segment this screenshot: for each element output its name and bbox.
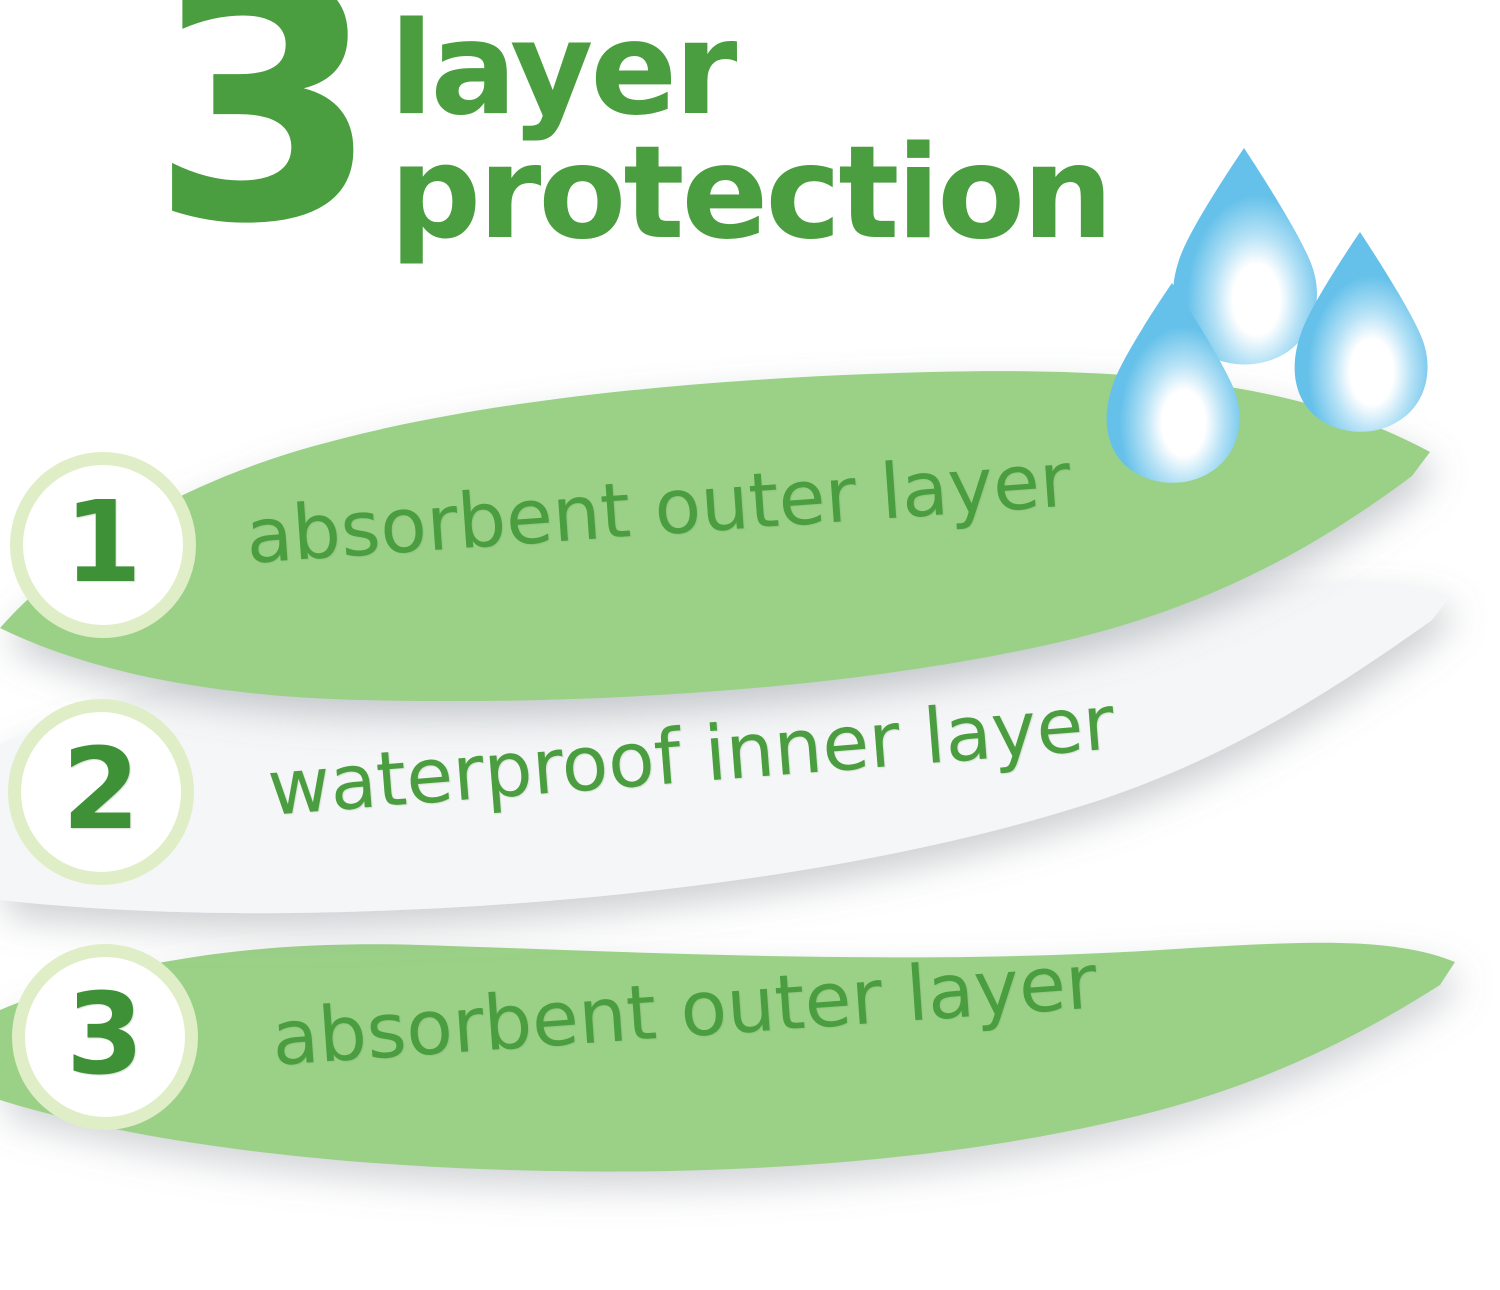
title-words: layer protection [390,8,1111,256]
layer-badge-number-1: 1 [64,487,142,599]
title-line-2: protection [390,132,1111,256]
layer-badge-number-2: 2 [62,734,140,846]
water-drop-icon [1295,232,1428,432]
layer-badge-1: 1 [10,452,196,638]
infographic-canvas: 3 layer protection absorbent outer layer… [0,0,1500,1290]
title-number: 3 [150,0,370,236]
layer-badge-2: 2 [8,699,194,885]
layer-badge-number-3: 3 [66,979,144,1091]
title-line-1: layer [390,8,1111,132]
title-block: 3 layer protection [150,0,1100,310]
layer-badge-3: 3 [12,944,198,1130]
